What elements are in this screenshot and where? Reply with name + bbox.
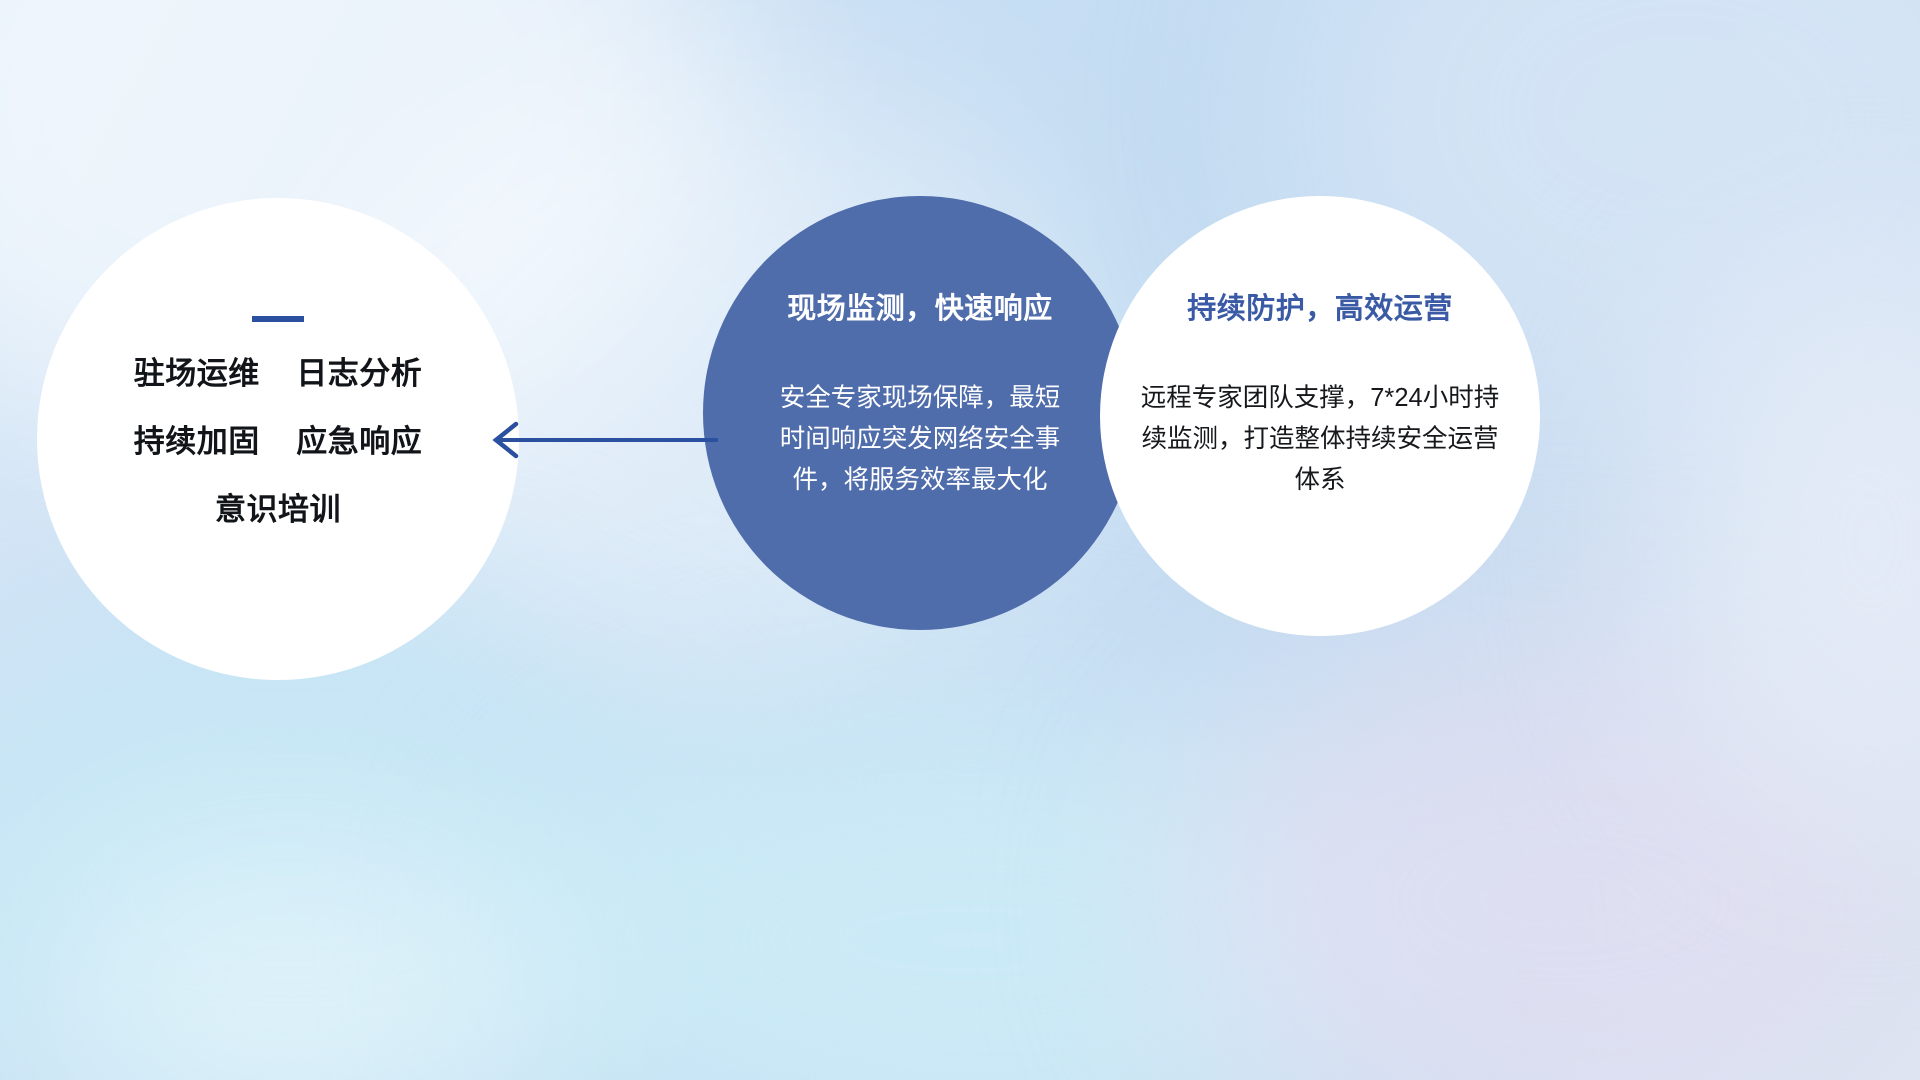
- arrow-left-icon: [470, 410, 720, 475]
- capability-line: 意识培训: [215, 494, 341, 525]
- capability-line: 持续加固 应急响应: [134, 426, 422, 457]
- arrow-left-svg: [470, 410, 720, 470]
- service-circle-title: 持续防护，高效运营: [1187, 294, 1453, 326]
- service-circle-onsite: 现场监测，快速响应 安全专家现场保障，最短时间响应突发网络安全事件，将服务效率最…: [703, 196, 1137, 630]
- service-circle-title: 现场监测，快速响应: [787, 294, 1053, 326]
- service-circle-body: 远程专家团队支撑，7*24小时持续监测，打造整体持续安全运营体系: [1137, 378, 1503, 502]
- service-circle-remote: 持续防护，高效运营 远程专家团队支撑，7*24小时持续监测，打造整体持续安全运营…: [1100, 196, 1540, 636]
- capability-line: 驻场运维 日志分析: [134, 358, 422, 389]
- service-circle-body: 安全专家现场保障，最短时间响应突发网络安全事件，将服务效率最大化: [770, 378, 1070, 502]
- diagram-stage: 驻场运维 日志分析 持续加固 应急响应 意识培训 现场监测，快速响应 安全专家现…: [0, 0, 1920, 1080]
- short-dash-divider-icon: [252, 316, 304, 322]
- capability-circle-left: 驻场运维 日志分析 持续加固 应急响应 意识培训: [37, 198, 519, 680]
